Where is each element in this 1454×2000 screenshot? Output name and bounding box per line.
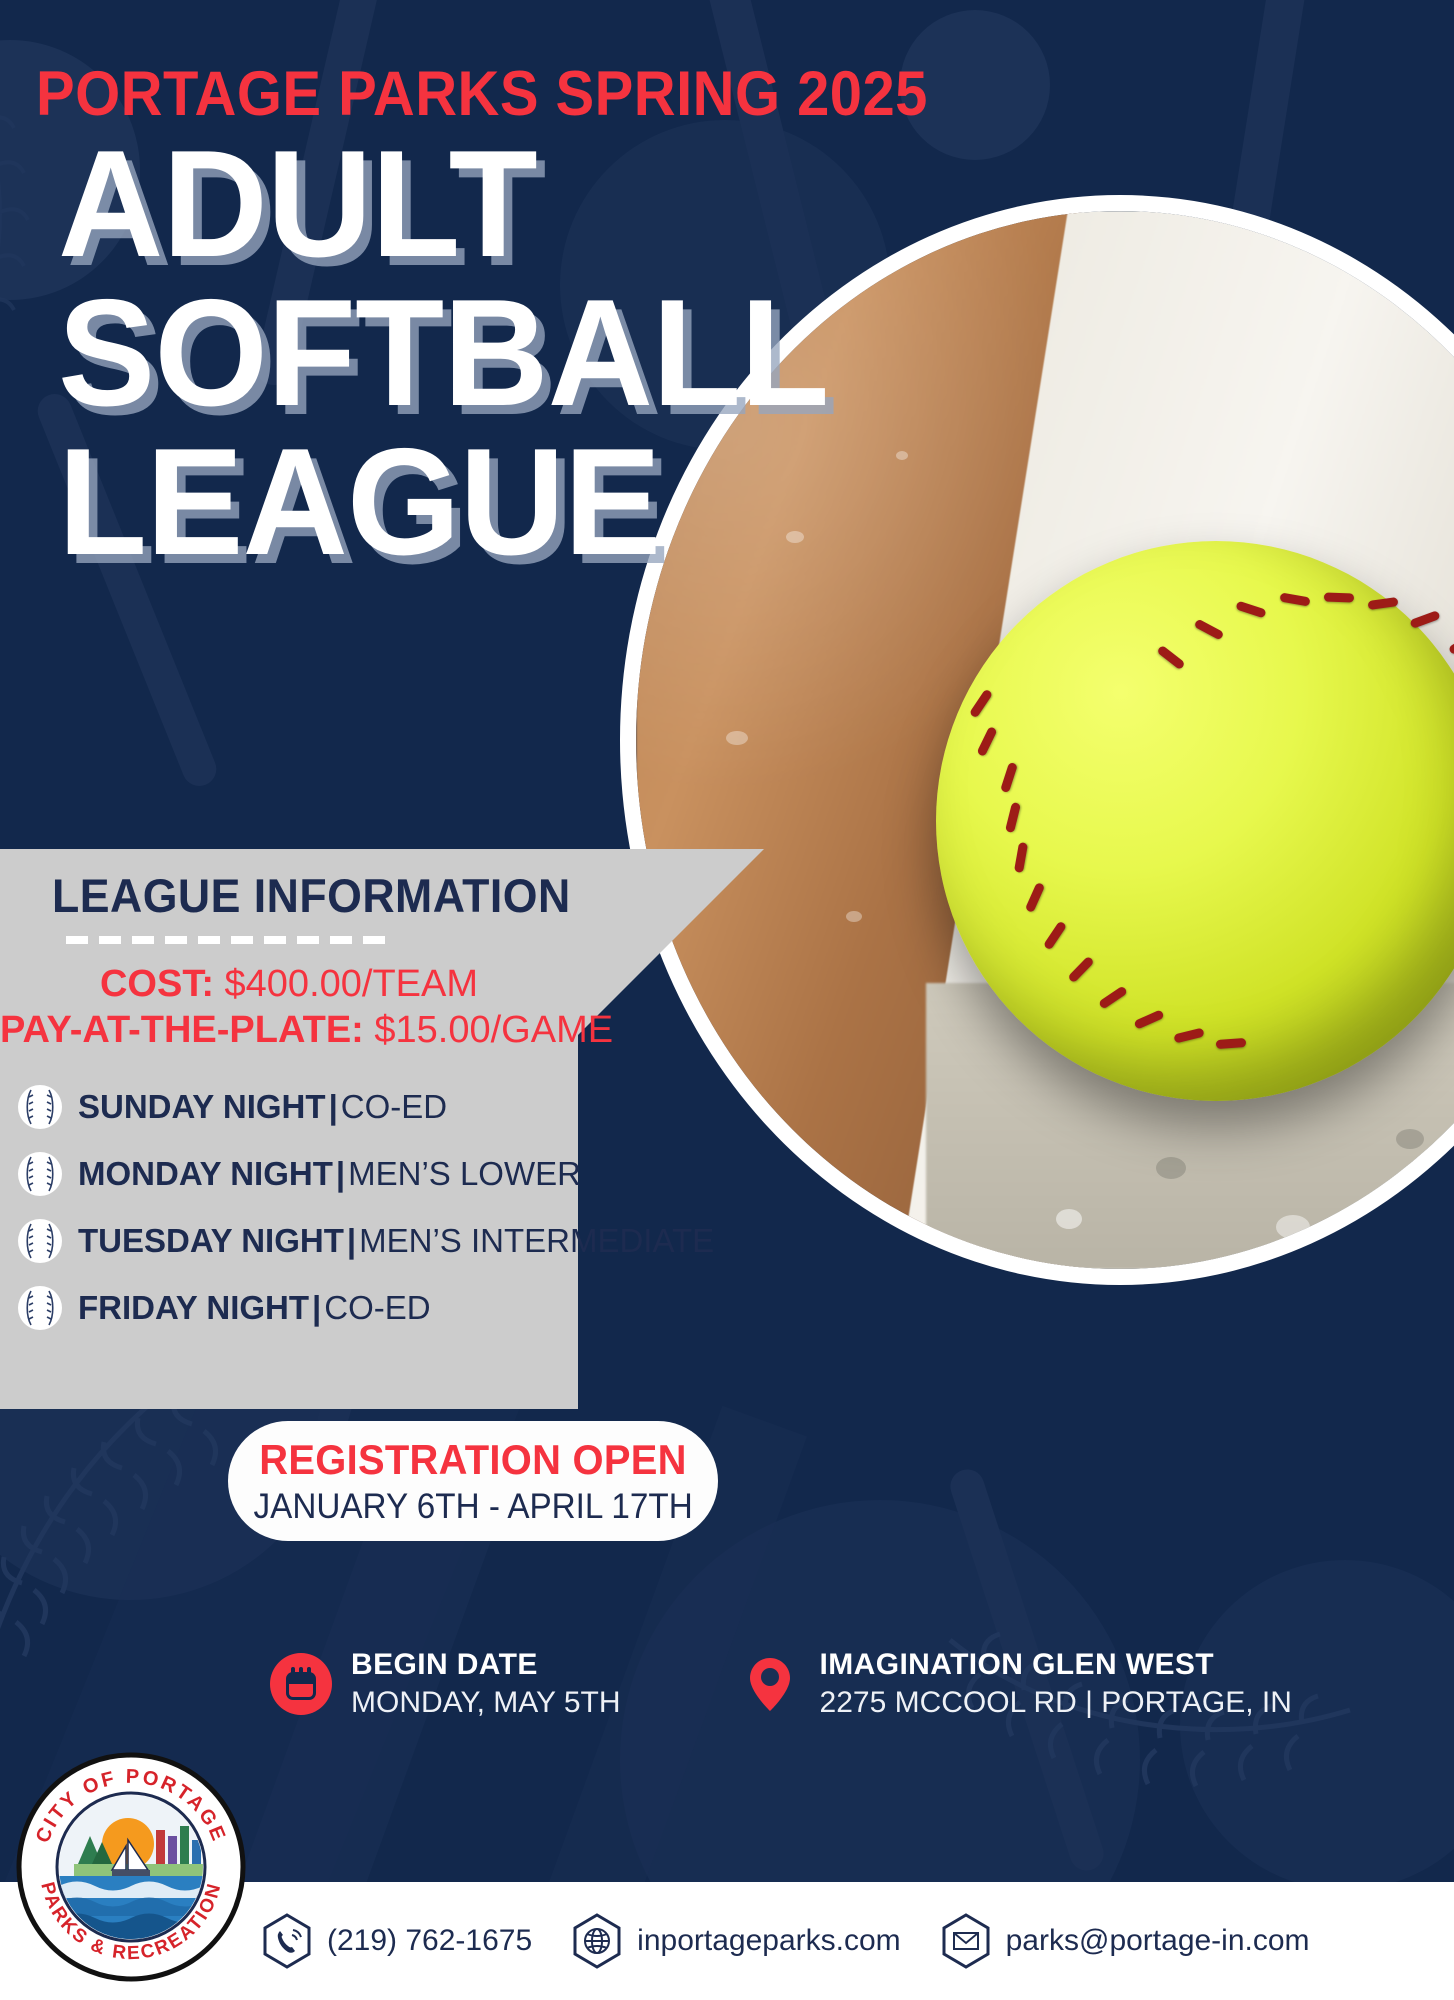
night-day: FRIDAY NIGHT	[78, 1289, 309, 1326]
globe-icon	[572, 1913, 622, 1969]
pay-at-plate-label: PAY-AT-THE-PLATE:	[0, 1009, 364, 1051]
list-item: FRIDAY NIGHT|CO-ED	[18, 1274, 718, 1341]
envelope-icon	[941, 1913, 991, 1969]
registration-title: REGISTRATION OPEN	[259, 1436, 687, 1484]
title-line-1: ADULT	[58, 130, 730, 279]
list-item: MONDAY NIGHT|MEN’S LOWER	[18, 1140, 718, 1207]
location-label: IMAGINATION GLEN WEST	[820, 1648, 1292, 1682]
location-detail: IMAGINATION GLEN WEST 2275 MCCOOL RD | P…	[739, 1648, 1292, 1720]
detail-row: BEGIN DATE MONDAY, MAY 5TH IMAGINATION G…	[270, 1648, 1292, 1720]
photo-speck	[846, 911, 862, 922]
cost-line: COST: $400.00/TEAM	[0, 963, 578, 1006]
begin-date-detail: BEGIN DATE MONDAY, MAY 5TH	[270, 1648, 621, 1720]
title-line-2: SOFTBALL	[58, 279, 730, 428]
city-parks-logo: CITY OF PORTAGE PARKS & RECREATION	[16, 1752, 246, 1982]
email-contact[interactable]: parks@portage-in.com	[941, 1913, 1310, 1969]
photo-speck	[896, 451, 908, 460]
photo-speck	[786, 531, 804, 543]
website-contact[interactable]: inportageparks.com	[572, 1913, 900, 1969]
list-item: TUESDAY NIGHT|MEN’S INTERMEDIATE	[18, 1207, 718, 1274]
phone-contact[interactable]: (219) 762-1675	[262, 1913, 532, 1969]
photo-speck	[726, 731, 748, 745]
night-text: SUNDAY NIGHT|CO-ED	[78, 1088, 447, 1126]
location-text: IMAGINATION GLEN WEST 2275 MCCOOL RD | P…	[820, 1648, 1292, 1720]
photo-gravel-dot	[1396, 1129, 1424, 1149]
registration-dates: JANUARY 6TH - APRIL 17TH	[253, 1487, 692, 1527]
bg-stitch-curve	[940, 1600, 1360, 1860]
website-url: inportageparks.com	[637, 1924, 900, 1958]
night-division: CO-ED	[341, 1088, 447, 1125]
begin-date-label: BEGIN DATE	[351, 1648, 621, 1682]
flyer-poster: PORTAGE PARKS SPRING 2025 ADULT SOFTBALL…	[0, 0, 1454, 2000]
night-text: FRIDAY NIGHT|CO-ED	[78, 1289, 431, 1327]
photo-gravel-dot	[1156, 1157, 1186, 1179]
night-division: MEN’S INTERMEDIATE	[359, 1222, 714, 1259]
night-division: MEN’S LOWER	[348, 1155, 581, 1192]
calendar-icon	[270, 1653, 332, 1715]
cost-value: $400.00/TEAM	[225, 963, 478, 1005]
registration-banner: REGISTRATION OPEN JANUARY 6TH - APRIL 17…	[228, 1421, 718, 1541]
league-info-heading: LEAGUE INFORMATION	[52, 868, 571, 923]
photo-gravel-dot	[1056, 1209, 1082, 1229]
night-separator: |	[309, 1289, 324, 1326]
night-separator: |	[333, 1155, 348, 1192]
list-item: SUNDAY NIGHT|CO-ED	[18, 1073, 718, 1140]
softball-bullet-icon	[18, 1085, 62, 1129]
night-separator: |	[326, 1088, 341, 1125]
pay-at-plate-line: PAY-AT-THE-PLATE: $15.00/GAME	[0, 1009, 578, 1052]
cost-label: COST:	[100, 963, 214, 1005]
softball-bullet-icon	[18, 1152, 62, 1196]
phone-icon	[262, 1913, 312, 1969]
night-text: MONDAY NIGHT|MEN’S LOWER	[78, 1155, 581, 1193]
night-day: TUESDAY NIGHT	[78, 1222, 344, 1259]
begin-date-text: BEGIN DATE MONDAY, MAY 5TH	[351, 1648, 621, 1720]
night-division: CO-ED	[324, 1289, 430, 1326]
night-text: TUESDAY NIGHT|MEN’S INTERMEDIATE	[78, 1222, 714, 1260]
night-day: SUNDAY NIGHT	[78, 1088, 326, 1125]
night-separator: |	[344, 1222, 359, 1259]
phone-number: (219) 762-1675	[327, 1924, 532, 1958]
dashed-divider	[66, 936, 385, 944]
panel-corner-notch	[578, 849, 764, 1035]
begin-date-value: MONDAY, MAY 5TH	[351, 1686, 621, 1720]
title-line-3: LEAGUE	[58, 428, 730, 577]
photo-gravel-dot	[1276, 1215, 1310, 1239]
location-value: 2275 MCCOOL RD | PORTAGE, IN	[820, 1686, 1292, 1720]
pay-at-plate-value: $15.00/GAME	[374, 1009, 613, 1051]
page-title: ADULT SOFTBALL LEAGUE	[58, 130, 758, 577]
night-day: MONDAY NIGHT	[78, 1155, 333, 1192]
map-pin-icon	[739, 1653, 801, 1715]
contact-list: (219) 762-1675 inportageparks.com	[262, 1913, 1310, 1969]
night-list: SUNDAY NIGHT|CO-ED MONDAY NIGHT|MEN’S LO…	[18, 1073, 718, 1341]
email-address: parks@portage-in.com	[1006, 1924, 1310, 1958]
softball-bullet-icon	[18, 1219, 62, 1263]
softball-bullet-icon	[18, 1286, 62, 1330]
